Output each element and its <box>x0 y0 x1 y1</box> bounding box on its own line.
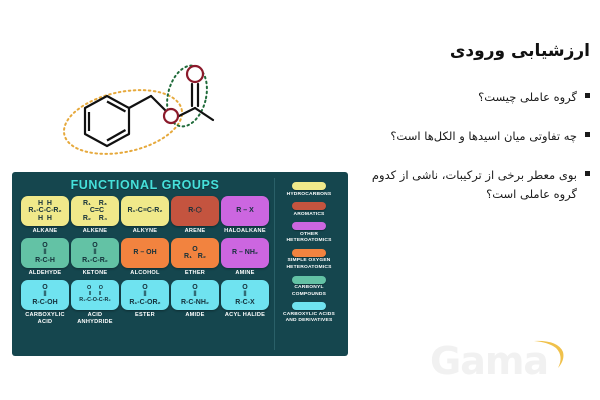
list-item: گروه عاملی چیست؟ <box>355 88 590 107</box>
fg-cell-ester[interactable]: O ‖ R₁-C-OR₂ ESTER <box>120 280 170 326</box>
fg-formula-alkane: H H R₁-C-C-R₂ H H <box>28 200 61 222</box>
legend-item-carboxylic-acids-and-derivatives[interactable]: CARBOXYLIC ACIDS AND DERIVATIVES <box>280 302 338 325</box>
bullet-square-icon <box>585 93 590 98</box>
benzene-ring <box>85 96 129 146</box>
legend-label-carbonyl-compounds: CARBONYL COMPOUNDS <box>280 285 338 298</box>
fg-formula-arene: R-⬡ <box>188 207 202 214</box>
legend-swatch-simple-oxygen-heteroatomics <box>292 249 326 257</box>
fg-cell-alcohol[interactable]: R – OH ALCOHOL <box>120 238 170 277</box>
fg-card-acid-anhydride: O O ‖ ‖ R₁-C-O-C-R₂ <box>71 280 119 310</box>
legend-label-aromatics: AROMATICS <box>293 212 324 219</box>
chart-row-3: O ‖ R-C-OH CARBOXYLIC ACID O O ‖ ‖ R₁-C-… <box>20 280 270 326</box>
fg-formula-alkyne: R₁-C≡C-R₂ <box>128 207 163 214</box>
fg-formula-alkene: R₁ R₃ C=C R₂ R₄ <box>83 200 107 222</box>
legend-label-hydrocarbons: HYDROCARBONS <box>287 192 332 199</box>
chart-row-2: O ‖ R-C-H ALDEHYDE O ‖ R₁-C-R₂ KETONE R … <box>20 238 270 277</box>
fg-card-haloalkane: R – X <box>221 196 269 226</box>
fg-formula-ketone: O ‖ R₁-C-R₂ <box>82 242 108 264</box>
fg-formula-acid-anhydride: O O ‖ ‖ R₁-C-O-C-R₂ <box>79 286 111 303</box>
fg-formula-acyl-halide: O ‖ R-C-X <box>235 284 254 306</box>
bullet-square-icon <box>585 132 590 137</box>
fg-label-ketone: KETONE <box>83 270 108 277</box>
functional-groups-infographic: FUNCTIONAL GROUPS H H R₁-C-C-R₂ H H ALKA… <box>12 172 348 356</box>
chart-legend: HYDROCARBONS AROMATICS OTHER HETEROATOMI… <box>274 178 340 350</box>
legend-swatch-other-heteroatomics <box>292 222 326 230</box>
legend-item-simple-oxygen-heteroatomics[interactable]: SIMPLE OXYGEN HETEROATOMICS <box>280 249 338 272</box>
legend-item-hydrocarbons[interactable]: HYDROCARBONS <box>287 182 332 198</box>
fg-label-amide: AMIDE <box>185 312 204 319</box>
fg-cell-acyl-halide[interactable]: O ‖ R-C-X ACYL HALIDE <box>220 280 270 326</box>
fg-cell-amine[interactable]: R – NH₂ AMINE <box>220 238 270 277</box>
bullet-square-icon <box>585 171 590 176</box>
carbonyl-oxygen-atom <box>187 66 203 82</box>
fg-card-alkene: R₁ R₃ C=C R₂ R₄ <box>71 196 119 226</box>
watermark-text: Gama <box>430 342 548 380</box>
legend-label-carboxylic-acids-and-derivatives: CARBOXYLIC ACIDS AND DERIVATIVES <box>280 312 338 325</box>
page-title: ارزشیابی ورودی <box>355 40 590 62</box>
fg-card-alcohol: R – OH <box>121 238 169 268</box>
fg-card-amide: O ‖ R-C-NH₂ <box>171 280 219 310</box>
fg-cell-aldehyde[interactable]: O ‖ R-C-H ALDEHYDE <box>20 238 70 277</box>
fg-formula-ester: O ‖ R₁-C-OR₂ <box>129 284 160 306</box>
bullet-text: بوی معطر برخی از ترکیبات، ناشی از کدوم گ… <box>355 166 577 204</box>
legend-item-aromatics[interactable]: AROMATICS <box>292 202 326 218</box>
fg-label-alcohol: ALCOHOL <box>130 270 159 277</box>
fg-card-alkane: H H R₁-C-C-R₂ H H <box>21 196 69 226</box>
list-item: چه تفاوتی میان اسیدها و الکل‌ها است؟ <box>355 127 590 146</box>
watermark-swoosh-icon <box>530 338 570 374</box>
fg-cell-amide[interactable]: O ‖ R-C-NH₂ AMIDE <box>170 280 220 326</box>
fg-formula-carboxylic-acid: O ‖ R-C-OH <box>32 284 57 306</box>
fg-card-acyl-halide: O ‖ R-C-X <box>221 280 269 310</box>
fg-label-amine: AMINE <box>235 270 254 277</box>
ester-oxygen-atom <box>164 109 178 123</box>
fg-formula-amide: O ‖ R-C-NH₂ <box>181 284 209 306</box>
fg-card-alkyne: R₁-C≡C-R₂ <box>121 196 169 226</box>
presentation-slide: FUNCTIONAL GROUPS H H R₁-C-C-R₂ H H ALKA… <box>0 0 600 400</box>
fg-card-carboxylic-acid: O ‖ R-C-OH <box>21 280 69 310</box>
fg-label-alkane: ALKANE <box>33 228 58 235</box>
fg-cell-alkyne[interactable]: R₁-C≡C-R₂ ALKYNE <box>120 196 170 235</box>
fg-cell-ketone[interactable]: O ‖ R₁-C-R₂ KETONE <box>70 238 120 277</box>
fg-formula-haloalkane: R – X <box>236 207 254 214</box>
fg-cell-haloalkane[interactable]: R – X HALOALKANE <box>220 196 270 235</box>
fg-cell-ether[interactable]: O R₁ R₂ ETHER <box>170 238 220 277</box>
fg-formula-ether: O R₁ R₂ <box>184 246 206 261</box>
list-item: بوی معطر برخی از ترکیبات، ناشی از کدوم گ… <box>355 166 590 204</box>
gama-watermark: Gama <box>430 338 580 386</box>
fg-label-carboxylic-acid: CARBOXYLIC ACID <box>20 312 70 326</box>
fg-formula-aldehyde: O ‖ R-C-H <box>35 242 55 264</box>
fg-card-amine: R – NH₂ <box>221 238 269 268</box>
fg-label-arene: ARENE <box>185 228 206 235</box>
legend-label-other-heteroatomics: OTHER HETEROATOMICS <box>280 232 338 245</box>
fg-cell-arene[interactable]: R-⬡ ARENE <box>170 196 220 235</box>
fg-label-ether: ETHER <box>185 270 205 277</box>
bullet-text: چه تفاوتی میان اسیدها و الکل‌ها است؟ <box>355 127 577 146</box>
legend-label-simple-oxygen-heteroatomics: SIMPLE OXYGEN HETEROATOMICS <box>280 258 338 271</box>
slide-content-pane: ارزشیابی ورودی گروه عاملی چیست؟ چه تفاوت… <box>355 40 590 300</box>
fg-formula-alcohol: R – OH <box>133 249 156 256</box>
fg-label-alkene: ALKENE <box>83 228 108 235</box>
fg-label-aldehyde: ALDEHYDE <box>29 270 62 277</box>
fg-label-ester: ESTER <box>135 312 155 319</box>
fg-card-ester: O ‖ R₁-C-OR₂ <box>121 280 169 310</box>
fg-label-acid-anhydride: ACID ANHYDRIDE <box>70 312 120 326</box>
fg-card-arene: R-⬡ <box>171 196 219 226</box>
benzyl-acetate-molecule-figure <box>55 50 235 170</box>
fg-cell-carboxylic-acid[interactable]: O ‖ R-C-OH CARBOXYLIC ACID <box>20 280 70 326</box>
fg-card-ketone: O ‖ R₁-C-R₂ <box>71 238 119 268</box>
legend-swatch-carbonyl-compounds <box>292 276 326 284</box>
fg-label-acyl-halide: ACYL HALIDE <box>225 312 265 319</box>
fg-label-haloalkane: HALOALKANE <box>224 228 266 235</box>
chart-row-1: H H R₁-C-C-R₂ H H ALKANE R₁ R₃ C=C R₂ R₄… <box>20 196 270 235</box>
fg-card-ether: O R₁ R₂ <box>171 238 219 268</box>
legend-swatch-hydrocarbons <box>292 182 326 190</box>
bullet-text: گروه عاملی چیست؟ <box>355 88 577 107</box>
legend-swatch-carboxylic-acids-and-derivatives <box>292 302 326 310</box>
fg-cell-alkane[interactable]: H H R₁-C-C-R₂ H H ALKANE <box>20 196 70 235</box>
legend-swatch-aromatics <box>292 202 326 210</box>
fg-cell-alkene[interactable]: R₁ R₃ C=C R₂ R₄ ALKENE <box>70 196 120 235</box>
fg-formula-amine: R – NH₂ <box>232 249 258 256</box>
functional-groups-grid: FUNCTIONAL GROUPS H H R₁-C-C-R₂ H H ALKA… <box>20 178 270 350</box>
chart-title: FUNCTIONAL GROUPS <box>20 178 270 192</box>
fg-cell-acid-anhydride[interactable]: O O ‖ ‖ R₁-C-O-C-R₂ ACID ANHYDRIDE <box>70 280 120 326</box>
legend-item-other-heteroatomics[interactable]: OTHER HETEROATOMICS <box>280 222 338 245</box>
fg-label-alkyne: ALKYNE <box>133 228 158 235</box>
fg-card-aldehyde: O ‖ R-C-H <box>21 238 69 268</box>
carbonyl-double-bond <box>192 84 198 106</box>
legend-item-carbonyl-compounds[interactable]: CARBONYL COMPOUNDS <box>280 276 338 299</box>
bullet-list: گروه عاملی چیست؟ چه تفاوتی میان اسیدها و… <box>355 88 590 204</box>
